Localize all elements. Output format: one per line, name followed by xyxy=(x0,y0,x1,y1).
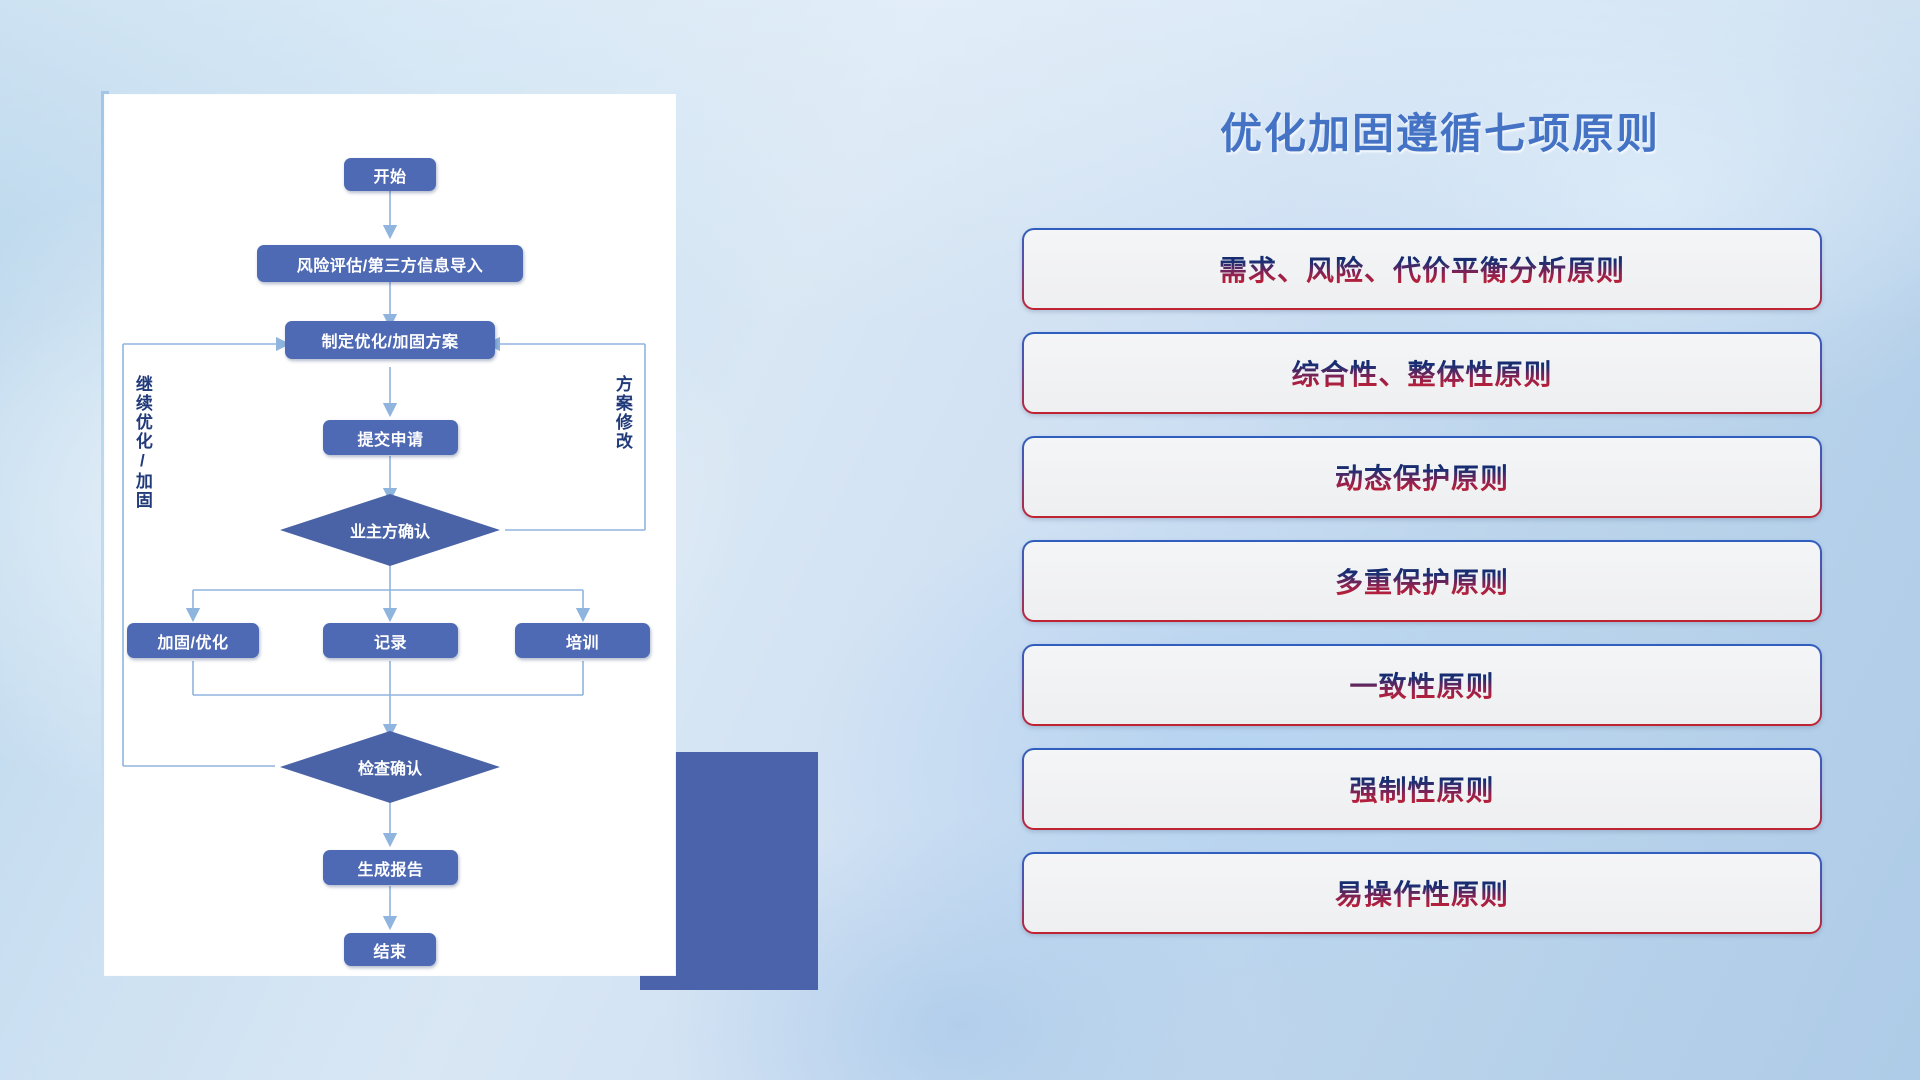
page-title: 优化加固遵循七项原则 xyxy=(960,100,1920,161)
principle-card-7[interactable]: 易操作性原则 xyxy=(1022,852,1822,934)
flow-node-training-label: 培训 xyxy=(566,629,599,653)
flow-node-submit[interactable]: 提交申请 xyxy=(323,420,458,455)
flow-node-plan-label: 制定优化/加固方案 xyxy=(322,328,459,352)
flow-edge-label-left-loop: 继续优化/加固 xyxy=(133,375,151,510)
principle-card-2-label: 综合性、整体性原则 xyxy=(1291,353,1552,393)
flow-node-training[interactable]: 培训 xyxy=(515,623,650,658)
principle-card-4-label: 多重保护原则 xyxy=(1335,561,1509,601)
flow-node-reinforce[interactable]: 加固/优化 xyxy=(127,623,259,658)
principle-card-2-inner: 综合性、整体性原则 xyxy=(1024,334,1820,412)
principle-card-1-label: 需求、风险、代价平衡分析原则 xyxy=(1219,249,1625,289)
principle-card-7-label: 易操作性原则 xyxy=(1335,873,1509,913)
principle-card-6-label: 强制性原则 xyxy=(1349,769,1494,809)
flow-node-end[interactable]: 结束 xyxy=(344,933,436,966)
flow-node-record-label: 记录 xyxy=(374,629,407,653)
flow-node-plan[interactable]: 制定优化/加固方案 xyxy=(285,321,495,359)
principle-card-2[interactable]: 综合性、整体性原则 xyxy=(1022,332,1822,414)
flowchart-card: 开始 风险评估/第三方信息导入 制定优化/加固方案 提交申请 业主方确认 加固/… xyxy=(105,95,675,975)
flow-node-risk-assessment-label: 风险评估/第三方信息导入 xyxy=(297,252,483,276)
flow-decision-owner-confirm-label: 业主方确认 xyxy=(350,518,430,542)
flowchart-canvas: 开始 风险评估/第三方信息导入 制定优化/加固方案 提交申请 业主方确认 加固/… xyxy=(105,95,675,975)
flow-node-report-label: 生成报告 xyxy=(357,856,423,880)
principle-card-6-inner: 强制性原则 xyxy=(1024,750,1820,828)
principle-card-1-inner: 需求、风险、代价平衡分析原则 xyxy=(1024,230,1820,308)
principle-card-1[interactable]: 需求、风险、代价平衡分析原则 xyxy=(1022,228,1822,310)
principle-card-7-inner: 易操作性原则 xyxy=(1024,854,1820,932)
principle-card-4[interactable]: 多重保护原则 xyxy=(1022,540,1822,622)
principle-card-6[interactable]: 强制性原则 xyxy=(1022,748,1822,830)
principle-card-5[interactable]: 一致性原则 xyxy=(1022,644,1822,726)
flowchart-panel: 开始 风险评估/第三方信息导入 制定优化/加固方案 提交申请 业主方确认 加固/… xyxy=(0,0,880,1080)
flow-node-start[interactable]: 开始 xyxy=(344,158,436,191)
flow-node-submit-label: 提交申请 xyxy=(357,426,423,450)
flow-decision-check-confirm-label: 检查确认 xyxy=(358,755,422,779)
principle-card-3-inner: 动态保护原则 xyxy=(1024,438,1820,516)
principles-panel: 优化加固遵循七项原则 需求、风险、代价平衡分析原则 综合性、整体性原则 动态保护… xyxy=(960,0,1920,1080)
flow-node-end-label: 结束 xyxy=(373,938,406,962)
flow-node-start-label: 开始 xyxy=(373,163,406,187)
principles-list: 需求、风险、代价平衡分析原则 综合性、整体性原则 动态保护原则 多重保护原则 一… xyxy=(1022,228,1822,956)
flow-node-risk-assessment[interactable]: 风险评估/第三方信息导入 xyxy=(257,245,523,282)
principle-card-4-inner: 多重保护原则 xyxy=(1024,542,1820,620)
principle-card-5-inner: 一致性原则 xyxy=(1024,646,1820,724)
principle-card-3-label: 动态保护原则 xyxy=(1335,457,1509,497)
principle-card-5-label: 一致性原则 xyxy=(1349,665,1494,705)
flow-node-report[interactable]: 生成报告 xyxy=(323,850,458,885)
flow-edge-label-right-loop: 方案修改 xyxy=(613,375,631,451)
principle-card-3[interactable]: 动态保护原则 xyxy=(1022,436,1822,518)
flow-node-reinforce-label: 加固/优化 xyxy=(158,629,229,653)
flow-node-record[interactable]: 记录 xyxy=(323,623,458,658)
